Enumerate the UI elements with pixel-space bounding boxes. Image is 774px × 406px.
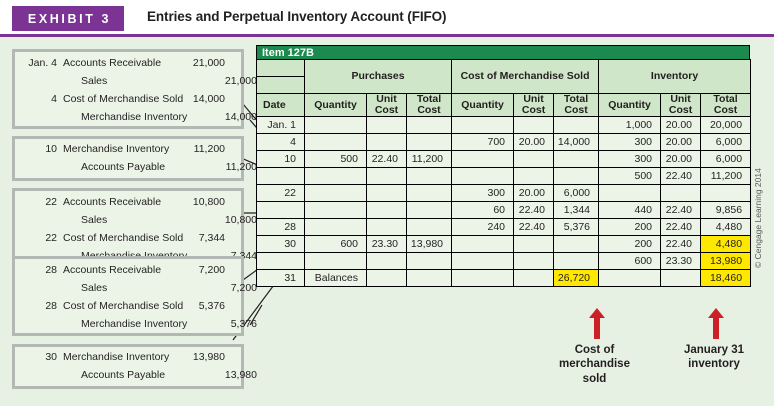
column-header-purchases-quantity: Quantity <box>305 94 367 117</box>
entry-account: Merchandise Inventory <box>81 318 187 330</box>
exhibit-header: EXHIBIT 3 Entries and Perpetual Inventor… <box>0 0 774 36</box>
cell-purchases-total-cost: 13,980 <box>407 236 452 253</box>
journal-row: Sales10,800 <box>15 214 241 232</box>
column-header-sold-total-cost: Total Cost <box>554 94 599 117</box>
cell-purchases-unit-cost <box>367 117 407 134</box>
cell-inventory-total-cost: 4,480 <box>701 219 751 236</box>
cell-inventory-total-cost <box>701 185 751 202</box>
cell-inventory-unit-cost: 20.00 <box>661 117 701 134</box>
entry-debit: 21,000 <box>181 57 225 69</box>
journal-row: Merchandise Inventory5,376 <box>15 318 241 336</box>
entry-account: Cost of Merchandise Sold <box>63 300 183 312</box>
column-header-sold-unit-cost: Unit Cost <box>514 94 554 117</box>
caption-line: January 31 <box>659 343 769 357</box>
cell-sold-total-cost: 14,000 <box>554 134 599 151</box>
cell-inventory-quantity: 440 <box>599 202 661 219</box>
column-header-inventory-unit-cost: Unit Cost <box>661 94 701 117</box>
cell-sold-total-cost <box>554 253 599 270</box>
cell-date: Jan. 1 <box>257 117 305 134</box>
cell-sold-unit-cost <box>514 168 554 185</box>
cell-sold-total-cost <box>554 168 599 185</box>
group-header-inventory: Inventory <box>599 60 751 94</box>
entry-debit: 10,800 <box>181 196 225 208</box>
cell-inventory-quantity: 300 <box>599 151 661 168</box>
cell-sold-quantity <box>452 151 514 168</box>
entry-account: Cost of Merchandise Sold <box>63 232 183 244</box>
entry-debit: 7,344 <box>181 232 225 244</box>
journal-entry-box-jan-10: 10Merchandise Inventory11,200 Accounts P… <box>12 136 244 181</box>
cost-of-merchandise-sold-caption: Cost of merchandise sold <box>537 343 652 386</box>
cell-purchases-total-cost <box>407 202 452 219</box>
table-row: 1050022.4011,20030020.006,000 <box>257 151 751 168</box>
cell-purchases-unit-cost <box>367 168 407 185</box>
journal-row: 4Cost of Merchandise Sold14,000 <box>15 93 241 111</box>
cell-purchases-total-cost <box>407 117 452 134</box>
cell-date: 10 <box>257 151 305 168</box>
cell-sold-total-cost <box>554 151 599 168</box>
entry-account: Accounts Payable <box>81 161 165 173</box>
journal-row: 22Accounts Receivable10,800 <box>15 196 241 214</box>
cell-inventory-total-cost: 18,460 <box>701 270 751 287</box>
entry-date: 10 <box>23 143 57 155</box>
cell-sold-total-cost: 1,344 <box>554 202 599 219</box>
entry-credit: 11,200 <box>211 161 257 173</box>
cell-inventory-quantity: 600 <box>599 253 661 270</box>
cell-inventory-quantity: 1,000 <box>599 117 661 134</box>
exhibit-number-tag: EXHIBIT 3 <box>12 6 124 31</box>
column-header-date: Date <box>257 94 305 117</box>
entry-credit: 5,376 <box>211 318 257 330</box>
cell-inventory-total-cost: 6,000 <box>701 134 751 151</box>
entry-debit: 5,376 <box>181 300 225 312</box>
journal-row: Sales21,000 <box>15 75 241 93</box>
table-row: 2230020.006,000 <box>257 185 751 202</box>
column-header-sold-quantity: Quantity <box>452 94 514 117</box>
cell-purchases-total-cost <box>407 253 452 270</box>
table-row: 3060023.3013,98020022.404,480 <box>257 236 751 253</box>
cell-purchases-quantity <box>305 185 367 202</box>
table-row: 2824022.405,37620022.404,480 <box>257 219 751 236</box>
cell-sold-total-cost: 26,720 <box>554 270 599 287</box>
cell-purchases-quantity: 600 <box>305 236 367 253</box>
table-row: 50022.4011,200 <box>257 168 751 185</box>
cell-sold-total-cost <box>554 117 599 134</box>
cell-sold-quantity <box>452 168 514 185</box>
journal-row: Merchandise Inventory14,000 <box>15 111 241 129</box>
entry-date: 30 <box>23 351 57 363</box>
cell-purchases-unit-cost <box>367 185 407 202</box>
cell-purchases-quantity: Balances <box>305 270 367 287</box>
entry-account: Accounts Receivable <box>63 57 161 69</box>
cell-purchases-quantity <box>305 219 367 236</box>
cell-inventory-quantity: 300 <box>599 134 661 151</box>
table-row: 60023.3013,980 <box>257 253 751 270</box>
cell-purchases-total-cost <box>407 219 452 236</box>
cell-purchases-unit-cost <box>367 134 407 151</box>
cell-inventory-unit-cost: 23.30 <box>661 253 701 270</box>
entry-account: Accounts Receivable <box>63 264 161 276</box>
table-row: Jan. 11,00020.0020,000 <box>257 117 751 134</box>
cell-sold-unit-cost <box>514 253 554 270</box>
cell-sold-unit-cost: 20.00 <box>514 185 554 202</box>
column-header-purchases-unit-cost: Unit Cost <box>367 94 407 117</box>
journal-row: 10Merchandise Inventory11,200 <box>15 143 241 161</box>
caption-line: Cost of <box>537 343 652 357</box>
cell-purchases-quantity <box>305 117 367 134</box>
cell-sold-quantity <box>452 117 514 134</box>
entry-account: Sales <box>81 75 107 87</box>
copyright-notice: © Cengage Learning 2014 <box>753 168 763 268</box>
cell-purchases-quantity <box>305 168 367 185</box>
entry-account: Cost of Merchandise Sold <box>63 93 183 105</box>
cell-inventory-total-cost: 20,000 <box>701 117 751 134</box>
cell-sold-unit-cost: 20.00 <box>514 134 554 151</box>
entry-date: 28 <box>23 264 57 276</box>
cell-purchases-unit-cost <box>367 253 407 270</box>
journal-row: 28Accounts Receivable7,200 <box>15 264 241 282</box>
entry-credit: 10,800 <box>211 214 257 226</box>
cell-date <box>257 168 305 185</box>
entry-debit: 11,200 <box>181 143 225 155</box>
cell-inventory-total-cost: 9,856 <box>701 202 751 219</box>
cell-purchases-unit-cost <box>367 202 407 219</box>
entry-account: Accounts Receivable <box>63 196 161 208</box>
inventory-account-table-wrapper: Item 127B Purchases Cost of Merchandise … <box>256 45 750 287</box>
cell-date <box>257 253 305 270</box>
journal-entry-box-jan-4: Jan. 4Accounts Receivable21,000 Sales21,… <box>12 49 244 129</box>
entry-credit: 7,200 <box>211 282 257 294</box>
entry-account: Sales <box>81 214 107 226</box>
cell-purchases-quantity <box>305 253 367 270</box>
caption-line: inventory <box>659 357 769 371</box>
entry-date: Jan. 4 <box>23 57 57 69</box>
entry-account: Merchandise Inventory <box>63 351 169 363</box>
inventory-account-table: Purchases Cost of Merchandise Sold Inven… <box>256 59 751 287</box>
cell-inventory-unit-cost: 22.40 <box>661 236 701 253</box>
cell-inventory-unit-cost <box>661 270 701 287</box>
cell-inventory-quantity: 200 <box>599 219 661 236</box>
cell-inventory-unit-cost: 20.00 <box>661 151 701 168</box>
cell-inventory-total-cost: 4,480 <box>701 236 751 253</box>
journal-entry-box-jan-30: 30Merchandise Inventory13,980 Accounts P… <box>12 344 244 389</box>
cell-purchases-quantity: 500 <box>305 151 367 168</box>
cell-inventory-total-cost: 11,200 <box>701 168 751 185</box>
entry-credit: 21,000 <box>211 75 257 87</box>
cell-sold-total-cost <box>554 236 599 253</box>
cell-sold-total-cost: 5,376 <box>554 219 599 236</box>
table-column-header-row: Date Quantity Unit Cost Total Cost Quant… <box>257 94 751 117</box>
cell-purchases-total-cost <box>407 168 452 185</box>
entry-credit: 14,000 <box>211 111 257 123</box>
inventory-table-body: Jan. 11,00020.0020,000470020.0014,000300… <box>257 117 751 287</box>
cell-purchases-unit-cost <box>367 270 407 287</box>
cell-inventory-unit-cost: 22.40 <box>661 219 701 236</box>
entry-account: Merchandise Inventory <box>81 111 187 123</box>
cell-date: 31 <box>257 270 305 287</box>
cell-purchases-total-cost: 11,200 <box>407 151 452 168</box>
cell-inventory-quantity <box>599 270 661 287</box>
group-header-blank <box>257 60 305 77</box>
journal-row: 22Cost of Merchandise Sold7,344 <box>15 232 241 250</box>
cell-sold-unit-cost <box>514 236 554 253</box>
cell-sold-quantity: 60 <box>452 202 514 219</box>
cell-inventory-quantity: 200 <box>599 236 661 253</box>
journal-row: 30Merchandise Inventory13,980 <box>15 351 241 369</box>
entry-date: 28 <box>23 300 57 312</box>
journal-row: 28Cost of Merchandise Sold5,376 <box>15 300 241 318</box>
cell-purchases-total-cost <box>407 270 452 287</box>
cell-inventory-unit-cost: 22.40 <box>661 202 701 219</box>
entry-credit: 13,980 <box>211 369 257 381</box>
entry-debit: 7,200 <box>181 264 225 276</box>
caption-line: merchandise <box>537 357 652 371</box>
group-header-cost-of-merchandise-sold: Cost of Merchandise Sold <box>452 60 599 94</box>
cell-inventory-quantity: 500 <box>599 168 661 185</box>
entry-date: 22 <box>23 196 57 208</box>
table-row: 6022.401,34444022.409,856 <box>257 202 751 219</box>
group-header-purchases: Purchases <box>305 60 452 94</box>
cell-purchases-unit-cost: 23.30 <box>367 236 407 253</box>
cell-inventory-total-cost: 6,000 <box>701 151 751 168</box>
cell-sold-unit-cost <box>514 151 554 168</box>
cell-date: 22 <box>257 185 305 202</box>
cell-sold-unit-cost: 22.40 <box>514 202 554 219</box>
cell-date: 28 <box>257 219 305 236</box>
table-row: 470020.0014,00030020.006,000 <box>257 134 751 151</box>
cell-purchases-unit-cost <box>367 219 407 236</box>
column-header-purchases-total-cost: Total Cost <box>407 94 452 117</box>
cell-sold-total-cost: 6,000 <box>554 185 599 202</box>
entry-account: Accounts Payable <box>81 369 165 381</box>
table-group-header-row: Purchases Cost of Merchandise Sold Inven… <box>257 60 751 77</box>
cell-purchases-unit-cost: 22.40 <box>367 151 407 168</box>
caption-line: sold <box>537 372 652 386</box>
cell-inventory-unit-cost: 22.40 <box>661 168 701 185</box>
cell-purchases-total-cost <box>407 134 452 151</box>
journal-row: Accounts Payable11,200 <box>15 161 241 179</box>
cell-inventory-unit-cost <box>661 185 701 202</box>
group-header-blank-2 <box>257 77 305 94</box>
exhibit-root: EXHIBIT 3 Entries and Perpetual Inventor… <box>0 0 774 406</box>
cell-inventory-unit-cost: 20.00 <box>661 134 701 151</box>
entry-account: Merchandise Inventory <box>63 143 169 155</box>
cell-sold-unit-cost <box>514 270 554 287</box>
cell-sold-quantity <box>452 236 514 253</box>
journal-entry-box-jan-28: 28Accounts Receivable7,200 Sales7,200 28… <box>12 256 244 336</box>
cell-date <box>257 202 305 219</box>
cell-inventory-quantity <box>599 185 661 202</box>
cell-date: 30 <box>257 236 305 253</box>
cell-purchases-quantity <box>305 202 367 219</box>
column-header-inventory-total-cost: Total Cost <box>701 94 751 117</box>
entry-date: 4 <box>23 93 57 105</box>
cell-sold-quantity: 700 <box>452 134 514 151</box>
cell-inventory-total-cost: 13,980 <box>701 253 751 270</box>
exhibit-title: Entries and Perpetual Inventory Account … <box>147 9 446 24</box>
entry-account: Sales <box>81 282 107 294</box>
cell-sold-quantity: 300 <box>452 185 514 202</box>
january-31-inventory-caption: January 31 inventory <box>659 343 769 372</box>
cell-sold-quantity <box>452 270 514 287</box>
item-label-bar: Item 127B <box>256 45 750 59</box>
entry-debit: 13,980 <box>181 351 225 363</box>
cell-date: 4 <box>257 134 305 151</box>
cell-sold-unit-cost <box>514 117 554 134</box>
journal-row: Sales7,200 <box>15 282 241 300</box>
table-row: 31Balances26,72018,460 <box>257 270 751 287</box>
column-header-inventory-quantity: Quantity <box>599 94 661 117</box>
cell-purchases-quantity <box>305 134 367 151</box>
cell-sold-quantity <box>452 253 514 270</box>
cell-sold-quantity: 240 <box>452 219 514 236</box>
entry-date: 22 <box>23 232 57 244</box>
entry-debit: 14,000 <box>181 93 225 105</box>
cell-sold-unit-cost: 22.40 <box>514 219 554 236</box>
journal-row: Jan. 4Accounts Receivable21,000 <box>15 57 241 75</box>
cell-purchases-total-cost <box>407 185 452 202</box>
journal-row: Accounts Payable13,980 <box>15 369 241 387</box>
